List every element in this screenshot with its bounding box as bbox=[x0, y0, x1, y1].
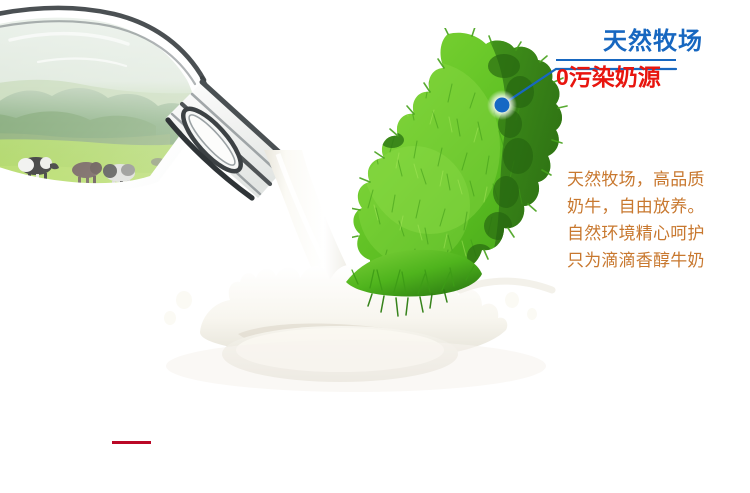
headline-main: 天然牧场 bbox=[556, 28, 750, 56]
grass-tuft-in-splash bbox=[336, 248, 486, 328]
location-marker-dot bbox=[495, 98, 510, 113]
body-line-3: 自然环境精心呵护 bbox=[567, 220, 747, 247]
bottle-outline bbox=[0, 8, 214, 126]
body-line-2: 奶牛，自由放养。 bbox=[567, 193, 747, 220]
body-line-1: 天然牧场，高品质 bbox=[567, 166, 747, 193]
headline-sub: 0污染奶源 bbox=[556, 64, 750, 90]
body-line-4: 只为滴滴香醇牛奶 bbox=[567, 247, 747, 274]
red-divider-mark bbox=[112, 441, 151, 444]
promo-banner: 天然牧场 0污染奶源 天然牧场，高品质 奶牛，自由放养。 自然环境精心呵护 只为… bbox=[0, 0, 750, 493]
headline-block: 天然牧场 0污染奶源 bbox=[556, 28, 750, 90]
headline-underline bbox=[556, 59, 676, 61]
cow bbox=[18, 157, 59, 184]
cow bbox=[0, 172, 9, 200]
glass-highlight bbox=[10, 34, 128, 66]
cow bbox=[103, 164, 135, 191]
cow bbox=[72, 162, 102, 186]
body-copy: 天然牧场，高品质 奶牛，自由放养。 自然环境精心呵护 只为滴滴香醇牛奶 bbox=[567, 166, 747, 274]
